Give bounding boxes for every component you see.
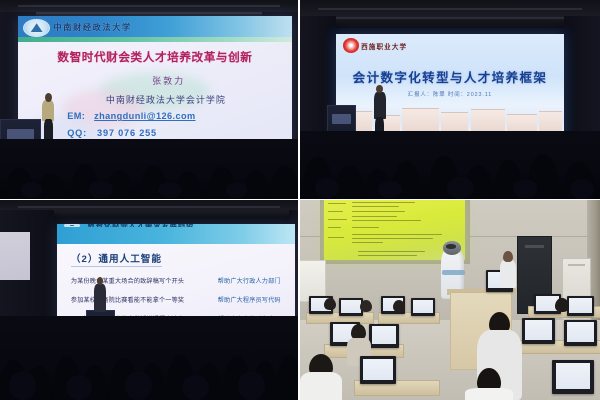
ceiling-strip [318,8,582,10]
projection-screen: 西施职业大学 会计数字化转型与人才培养框架 汇报人：陈翠 时间：2023.11 [336,34,564,145]
text-line [358,251,425,252]
ceiling-strip [18,5,280,7]
audience-silhouette [39,173,63,199]
student-torso [300,372,342,400]
qq-label: QQ: [67,128,87,138]
slide-title: 会计数字化转型与人才培养框架 [350,67,551,86]
audience-silhouette [226,182,247,198]
secondary-screen [0,232,30,280]
university-name: 中南财经政法大学 [54,20,180,34]
computer-lab-room [300,200,600,400]
instructor-torso [500,260,517,288]
text-line [352,202,415,203]
auditorium-hall: 数智化财会人才需求发展趋势 （2）通用人工智能 为某份晚会某重大场合的致辞稿写个… [0,200,298,400]
qq-line: QQ: 397 076 255 [67,128,275,138]
monitor-screen [372,326,397,344]
panel-bottom-left: 数智化财会人才需求发展趋势 （2）通用人工智能 为某份晚会某重大场合的致辞稿写个… [0,200,298,400]
lectern-plate [332,114,350,124]
row-question: 为某份晚会某重大场合的致辞稿写个开头 [71,276,184,285]
slide-subtitle: 汇报人：陈翠 时间：2023.11 [382,90,519,98]
university-name: 西施职业大学 [361,39,452,51]
audience-silhouette [336,165,363,199]
panel-bottom-right [300,200,600,400]
student-torso [465,388,513,400]
audience-silhouette [447,177,474,199]
auditorium-hall: 中南财经政法大学 数智时代财会类人才培养改革与创新 张敦力 中南财经政法大学会计… [0,0,298,199]
audience-area [300,131,600,199]
speaker-head [45,93,52,102]
instructor-head [503,251,513,262]
monitor-screen [363,359,393,380]
audience-silhouette [158,182,182,199]
ceiling [300,0,600,28]
university-logo-icon [343,38,359,52]
speaker-name: 张敦力 [73,74,265,87]
monitor-screen [341,300,361,314]
audience-silhouette [9,371,36,400]
student-monitor [360,356,396,384]
student-head [393,300,405,312]
email-line: EM: zhangdunli@126.com [67,111,275,121]
audience-silhouette [21,182,42,198]
slide-title: 数智时代财会类人才培养改革与创新 [37,49,273,65]
slide-header-bar: 数智化财会人才需求发展趋势 [57,224,295,244]
student-monitor [411,298,435,316]
audience-silhouette [125,371,152,400]
text-line [352,220,421,221]
student-monitor [564,320,597,346]
row-answer: 帮助广大程序员写代码 [218,295,281,304]
slide-header-icon [64,224,81,227]
robot-accent-band [442,270,465,275]
text-line [352,227,378,228]
slide-section-title: （2）通用人工智能 [71,251,162,267]
projection-screen: 中南财经政法大学 数智时代财会类人才培养改革与创新 张敦力 中南财经政法大学会计… [18,16,292,159]
student-head [360,300,372,312]
text-line [328,203,345,204]
audience-area [0,316,298,400]
text-line [352,238,433,239]
student-head [324,298,336,310]
monitor-screen [525,320,552,340]
audience-silhouette [66,375,93,400]
email-value: zhangdunli@126.com [94,111,195,121]
student-monitor [522,318,555,344]
text-line [328,211,342,212]
monitor-screen [413,300,433,314]
ceiling-strip [18,206,280,208]
student-monitor [567,296,594,316]
ceiling-strip [318,17,582,19]
text-line [328,237,344,238]
qq-value: 397 076 255 [97,128,157,138]
speaker-torso [42,100,55,122]
speaker-torso [374,92,386,120]
audience-silhouette [244,170,268,199]
text-line [328,227,341,228]
row-question: 参加某校或商院比赛看能不能拿个一等奖 [71,295,184,304]
audience-silhouette [182,375,209,400]
row-answer: 帮助广大行政人力部门 [218,276,281,285]
robot-eye-icon [446,244,457,248]
audience-silhouette [277,355,298,400]
speaker-torso [94,284,106,312]
slide-banner-accent [18,37,292,42]
text-line [352,234,441,235]
text-line [352,206,399,207]
slide-header-title: 数智化财会人才需求发展趋势 [88,224,231,226]
audience-silhouette [271,166,298,199]
text-line [352,242,382,243]
student-monitor [369,324,399,348]
screen-document-body [352,200,454,258]
audience-silhouette [238,371,265,400]
student-head [555,298,569,312]
panel-top-left: 中南财经政法大学 数智时代财会类人才培养改革与创新 张敦力 中南财经政法大学会计… [0,0,298,199]
speaker-affiliation: 中南财经政法大学会计学院 [62,93,270,106]
email-label: EM: [67,111,85,121]
audience-area [0,139,298,199]
screen-sidebar [328,200,349,256]
monitor-screen [567,322,594,342]
photo-collage-grid: 中南财经政法大学 数智时代财会类人才培养改革与创新 张敦力 中南财经政法大学会计… [0,0,600,400]
monitor-screen [556,363,590,389]
text-line [358,255,417,256]
panel-top-right: 西施职业大学 会计数字化转型与人才培养框架 汇报人：陈翠 时间：2023.11 [300,0,600,199]
audience-silhouette [570,179,594,199]
text-line [352,216,397,217]
student-monitor [552,360,594,394]
monitor-screen [569,298,591,313]
text-line [328,219,347,220]
university-logo-icon [23,19,50,37]
auditorium-hall: 西施职业大学 会计数字化转型与人才培养框架 汇报人：陈翠 时间：2023.11 [300,0,600,199]
text-line [352,211,405,212]
ceiling-strip [18,12,280,14]
